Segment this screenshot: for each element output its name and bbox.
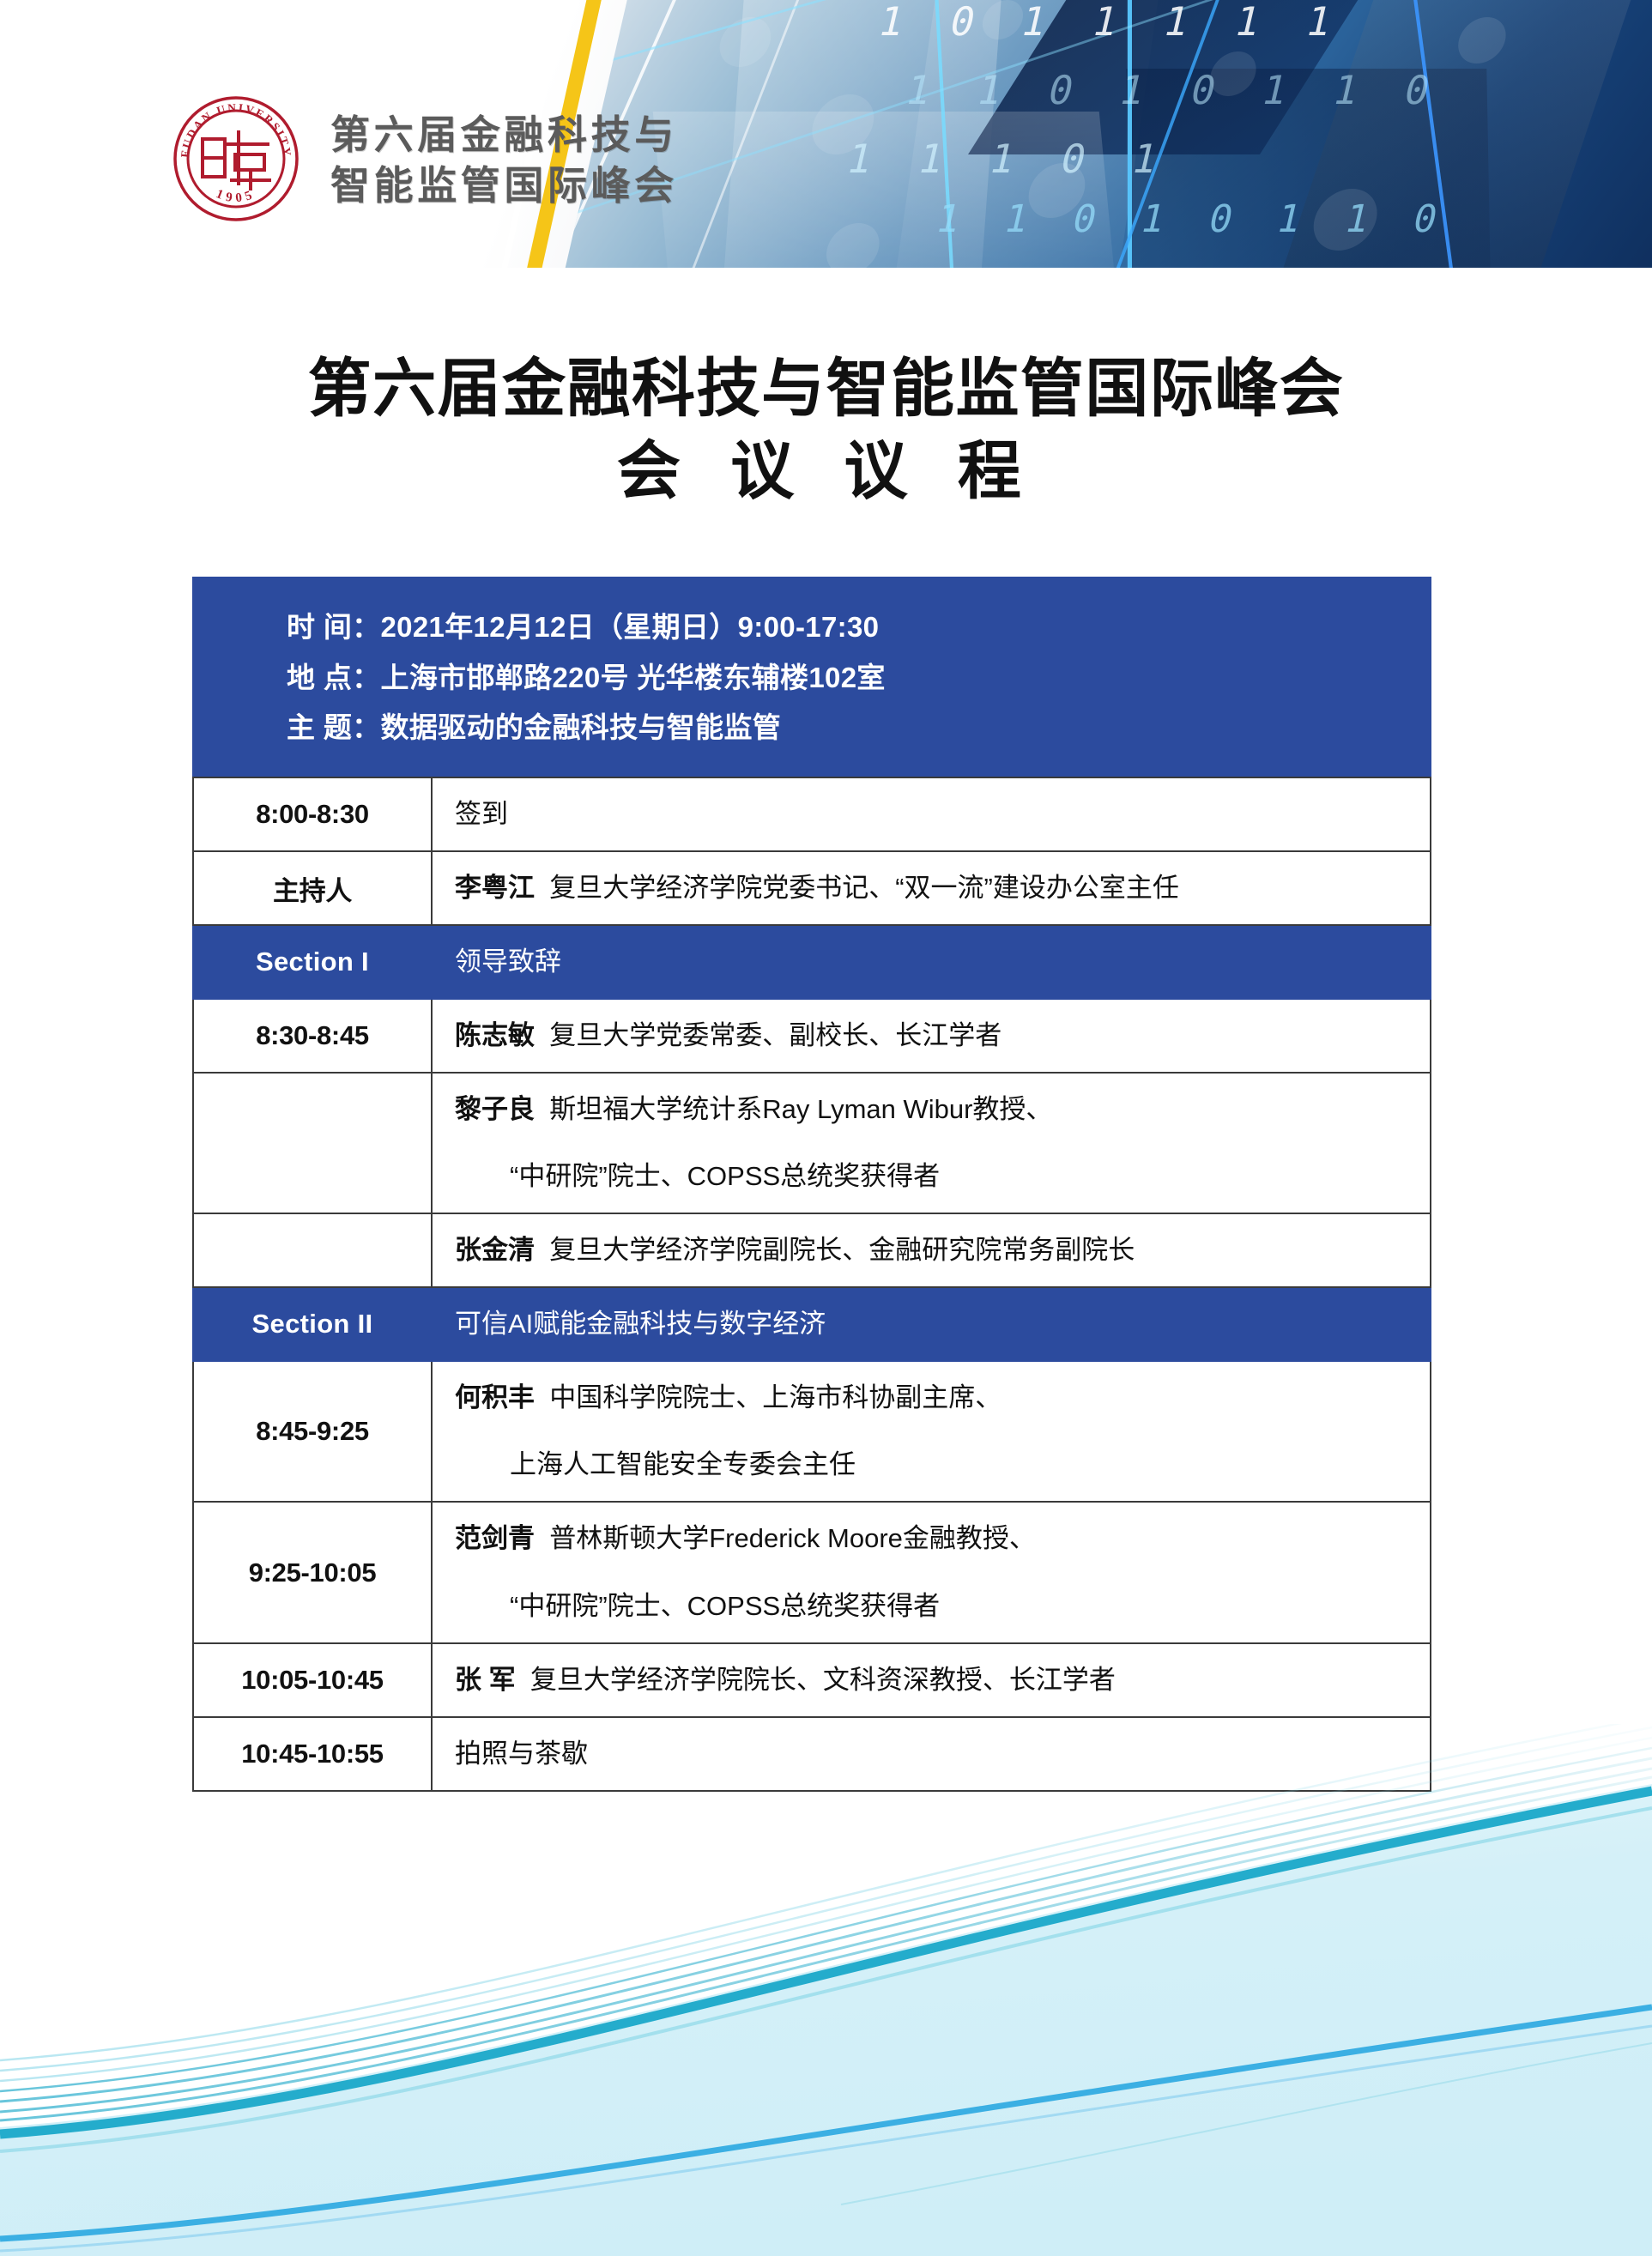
- title-line-2: 会 议 议 程: [0, 430, 1652, 512]
- agenda-row: 8:45-9:25何积丰 中国科学院院士、上海市科协副主席、上海人工智能安全专委…: [193, 1361, 1431, 1502]
- speaker-name: 陈志敏: [455, 1020, 549, 1050]
- info-value-theme: 数据驱动的金融科技与智能监管: [381, 711, 782, 743]
- agenda-time-cell: [193, 1213, 432, 1287]
- agenda-row: 9:25-10:05范剑青 普林斯顿大学Frederick Moore金融教授、…: [193, 1502, 1431, 1642]
- banner-bottom-edge: [0, 268, 1652, 283]
- brand-line-1: 第六届金融科技与: [330, 110, 777, 160]
- brand-line-2: 智能监管国际峰会: [330, 160, 777, 211]
- binary-text: 1 0 1 1 1 1 1: [874, 0, 1348, 45]
- agenda-desc-text: 李粤江 复旦大学经济学院党委书记、“双一流”建设办公室主任: [455, 873, 1179, 903]
- agenda-time-cell: Section I: [193, 925, 432, 999]
- agenda-desc-cell: 何积丰 中国科学院院士、上海市科协副主席、上海人工智能安全专委会主任: [432, 1361, 1431, 1502]
- agenda-time-cell: 8:00-8:30: [193, 777, 432, 851]
- agenda-time-text: 10:05-10:45: [241, 1665, 384, 1695]
- info-value-venue: 上海市邯郸路220号 光华楼东辅楼102室: [381, 662, 886, 693]
- agenda-time-cell: [193, 1073, 432, 1213]
- agenda-row: 8:00-8:30签到: [193, 777, 1431, 851]
- info-value-time: 2021年12月12日（星期日）9:00-17:30: [381, 611, 880, 643]
- brand-lockup: 第六届金融科技与 智能监管国际峰会: [330, 110, 777, 211]
- agenda-row: 主持人李粤江 复旦大学经济学院党委书记、“双一流”建设办公室主任: [193, 851, 1431, 925]
- binary-text: 1 1 0 1 0 1 1 0: [901, 67, 1446, 113]
- agenda-table: 8:00-8:30签到主持人李粤江 复旦大学经济学院党委书记、“双一流”建设办公…: [192, 777, 1431, 1792]
- event-info-box: 时 间：2021年12月12日（星期日）9:00-17:30 地 点：上海市邯郸…: [192, 577, 1431, 777]
- agenda-desc-cell: 可信AI赋能金融科技与数字经济: [432, 1287, 1431, 1361]
- page-title: 第六届金融科技与智能监管国际峰会 会 议 议 程: [0, 348, 1652, 512]
- agenda-section-row: Section II可信AI赋能金融科技与数字经济: [193, 1287, 1431, 1361]
- agenda-desc-text: 张 军 复旦大学经济学院院长、文科资深教授、长江学者: [455, 1665, 1116, 1695]
- agenda-desc-cell: 黎子良 斯坦福大学统计系Ray Lyman Wibur教授、“中研院”院士、CO…: [432, 1073, 1431, 1213]
- speaker-name: 黎子良: [455, 1094, 549, 1124]
- agenda-row: 10:05-10:45张 军 复旦大学经济学院院长、文科资深教授、长江学者: [193, 1643, 1431, 1717]
- speaker-name: 张 军: [455, 1665, 530, 1695]
- agenda-time-cell: 8:30-8:45: [193, 999, 432, 1073]
- agenda-time-text: 8:30-8:45: [256, 1020, 369, 1050]
- binary-text: 1 1 1 0 1: [843, 136, 1174, 182]
- binary-text: 1 1 0 1 0 1 1 0: [932, 197, 1453, 241]
- agenda-desc-line2: 上海人工智能安全专委会主任: [455, 1444, 1430, 1485]
- agenda-desc-line2: “中研院”院士、COPSS总统奖获得者: [455, 1156, 1430, 1197]
- agenda-time-cell: Section II: [193, 1287, 432, 1361]
- agenda-desc-cell: 张 军 复旦大学经济学院院长、文科资深教授、长江学者: [432, 1643, 1431, 1717]
- agenda-time-text: [309, 1235, 316, 1265]
- info-label-time: 时 间：: [287, 602, 381, 653]
- agenda-time-text: 8:00-8:30: [256, 799, 369, 829]
- agenda-time-text: Section I: [256, 947, 369, 977]
- speaker-name: 张金清: [455, 1235, 549, 1265]
- agenda-desc-text: 签到: [455, 799, 508, 829]
- footer-wave-decoration: [0, 1724, 1652, 2256]
- agenda-desc-cell: 范剑青 普林斯顿大学Frederick Moore金融教授、“中研院”院士、CO…: [432, 1502, 1431, 1642]
- agenda-row: 黎子良 斯坦福大学统计系Ray Lyman Wibur教授、“中研院”院士、CO…: [193, 1073, 1431, 1213]
- agenda-desc-text: 领导致辞: [455, 947, 561, 977]
- agenda-desc-cell: 陈志敏 复旦大学党委常委、副校长、长江学者: [432, 999, 1431, 1073]
- svg-text:FUDAN UNIVERSITY: FUDAN UNIVERSITY: [179, 101, 293, 159]
- agenda-desc-cell: 领导致辞: [432, 925, 1431, 999]
- agenda-time-cell: 10:05-10:45: [193, 1643, 432, 1717]
- info-label-venue: 地 点：: [287, 653, 381, 704]
- agenda-row: 张金清 复旦大学经济学院副院长、金融研究院常务副院长: [193, 1213, 1431, 1287]
- speaker-name: 李粤江: [455, 873, 549, 903]
- speaker-name: 范剑青: [455, 1523, 549, 1553]
- agenda-time-cell: 8:45-9:25: [193, 1361, 432, 1502]
- agenda-desc-text: 黎子良 斯坦福大学统计系Ray Lyman Wibur教授、“中研院”院士、CO…: [455, 1094, 1430, 1197]
- agenda-time-text: 主持人: [273, 876, 352, 906]
- agenda-desc-text: 可信AI赋能金融科技与数字经济: [455, 1309, 826, 1339]
- agenda-time-cell: 9:25-10:05: [193, 1502, 432, 1642]
- agenda-desc-cell: 签到: [432, 777, 1431, 851]
- agenda-desc-cell: 李粤江 复旦大学经济学院党委书记、“双一流”建设办公室主任: [432, 851, 1431, 925]
- title-line-1: 第六届金融科技与智能监管国际峰会: [0, 348, 1652, 430]
- agenda-time-text: 9:25-10:05: [249, 1557, 377, 1588]
- agenda-section-row: Section I领导致辞: [193, 925, 1431, 999]
- agenda-desc-cell: 张金清 复旦大学经济学院副院长、金融研究院常务副院长: [432, 1213, 1431, 1287]
- agenda-desc-text: 张金清 复旦大学经济学院副院长、金融研究院常务副院长: [455, 1235, 1135, 1265]
- info-row-venue: 地 点：上海市邯郸路220号 光华楼东辅楼102室: [287, 653, 1431, 704]
- info-row-time: 时 间：2021年12月12日（星期日）9:00-17:30: [287, 602, 1431, 653]
- agenda-time-cell: 主持人: [193, 851, 432, 925]
- agenda-desc-text: 范剑青 普林斯顿大学Frederick Moore金融教授、“中研院”院士、CO…: [455, 1523, 1430, 1626]
- agenda-time-text: [309, 1128, 316, 1158]
- agenda-time-text: Section II: [252, 1309, 373, 1339]
- speaker-name: 何积丰: [455, 1382, 549, 1412]
- agenda-time-text: 8:45-9:25: [256, 1416, 369, 1446]
- agenda-row: 8:30-8:45陈志敏 复旦大学党委常委、副校长、长江学者: [193, 999, 1431, 1073]
- info-label-theme: 主 题：: [287, 703, 381, 753]
- fudan-logo: FUDAN UNIVERSITY 1905: [172, 94, 300, 223]
- agenda-desc-text: 何积丰 中国科学院院士、上海市科协副主席、上海人工智能安全专委会主任: [455, 1382, 1430, 1485]
- agenda-desc-text: 陈志敏 复旦大学党委常委、副校长、长江学者: [455, 1020, 1001, 1050]
- info-row-theme: 主 题：数据驱动的金融科技与智能监管: [287, 703, 1431, 753]
- agenda-desc-line2: “中研院”院士、COPSS总统奖获得者: [455, 1586, 1430, 1627]
